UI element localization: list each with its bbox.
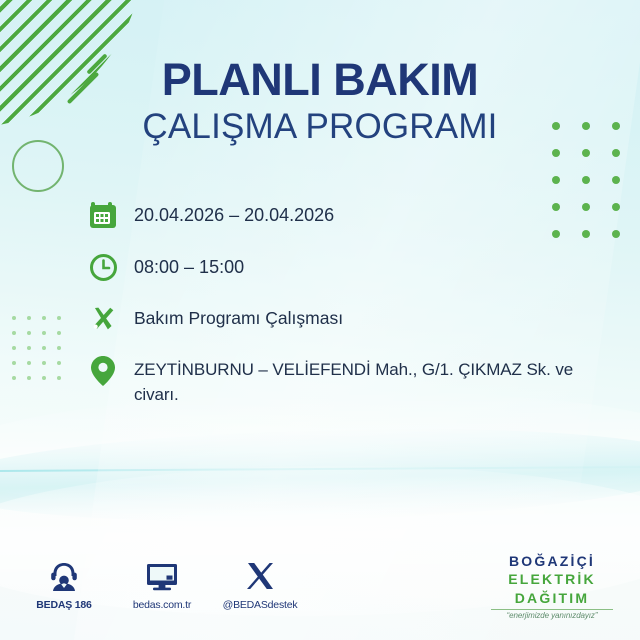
dot — [57, 376, 61, 380]
dot — [27, 346, 31, 350]
dot — [42, 331, 46, 335]
dot — [612, 149, 620, 157]
dot — [582, 149, 590, 157]
maintenance-details-list: 20.04.2026 – 20.04.2026 08:00 – 15:00 — [86, 198, 586, 407]
dot — [12, 331, 16, 335]
title-line-secondary: ÇALIŞMA PROGRAMI — [0, 105, 640, 149]
detail-row-work-type: Bakım Programı Çalışması — [86, 302, 586, 336]
dot — [57, 361, 61, 365]
dot — [27, 316, 31, 320]
footer: BEDAŞ 186 bedas.com.tr — [0, 544, 640, 640]
dot — [12, 376, 16, 380]
dot — [42, 361, 46, 365]
dot — [612, 176, 620, 184]
bedas-logo: BOĞAZİÇİ ELEKTRİK DAĞITIM “enerjimizde y… — [482, 552, 622, 620]
dot — [12, 316, 16, 320]
logo-tagline: “enerjimizde yanınızdayız” — [482, 611, 622, 620]
logo-line-dagitim: DAĞITIM — [482, 589, 622, 607]
dot — [42, 346, 46, 350]
logo-line-elektrik: ELEKTRİK — [482, 570, 622, 588]
detail-time-value: 08:00 – 15:00 — [120, 250, 244, 280]
dot — [57, 331, 61, 335]
dot — [12, 361, 16, 365]
contact-social-x-label: @BEDASdestek — [223, 599, 298, 611]
dot — [582, 176, 590, 184]
dot — [552, 149, 560, 157]
background-wave-middle — [0, 419, 640, 530]
location-pin-icon — [86, 354, 120, 388]
logo-divider — [491, 609, 613, 610]
detail-location-value: ZEYTİNBURNU – VELİEFENDİ Mah., G/1. ÇIKM… — [120, 354, 586, 407]
planned-maintenance-poster: PLANLI BAKIM ÇALIŞMA PROGRAMI — [0, 0, 640, 640]
contact-social-x[interactable]: @BEDASdestek — [224, 552, 296, 611]
dot — [42, 316, 46, 320]
detail-work-type-value: Bakım Programı Çalışması — [120, 302, 343, 331]
contact-website[interactable]: bedas.com.tr — [126, 552, 198, 611]
footer-contacts: BEDAŞ 186 bedas.com.tr — [28, 552, 296, 611]
dot — [57, 346, 61, 350]
title-line-primary: PLANLI BAKIM — [0, 56, 640, 103]
dot — [12, 346, 16, 350]
monitor-website-icon — [144, 552, 180, 592]
page-title: PLANLI BAKIM ÇALIŞMA PROGRAMI — [0, 56, 640, 149]
logo-line-bogazici: BOĞAZİÇİ — [482, 552, 622, 570]
dot — [27, 376, 31, 380]
dot — [612, 230, 620, 238]
detail-row-time: 08:00 – 15:00 — [86, 250, 586, 284]
dot — [42, 376, 46, 380]
contact-call-center-label: BEDAŞ 186 — [36, 599, 91, 611]
background-wave-line — [0, 466, 640, 472]
calendar-icon — [86, 198, 120, 232]
dot-grid-left-decoration — [12, 316, 72, 391]
x-twitter-icon — [244, 552, 276, 592]
detail-date-value: 20.04.2026 – 20.04.2026 — [120, 198, 334, 228]
headset-support-icon — [47, 552, 81, 592]
dot — [27, 361, 31, 365]
detail-row-location: ZEYTİNBURNU – VELİEFENDİ Mah., G/1. ÇIKM… — [86, 354, 586, 407]
contact-website-label: bedas.com.tr — [133, 599, 191, 611]
dot — [57, 316, 61, 320]
tools-icon — [86, 302, 120, 336]
dot — [552, 176, 560, 184]
contact-call-center[interactable]: BEDAŞ 186 — [28, 552, 100, 611]
detail-row-date: 20.04.2026 – 20.04.2026 — [86, 198, 586, 232]
dot — [27, 331, 31, 335]
dot — [612, 203, 620, 211]
clock-icon — [86, 250, 120, 284]
